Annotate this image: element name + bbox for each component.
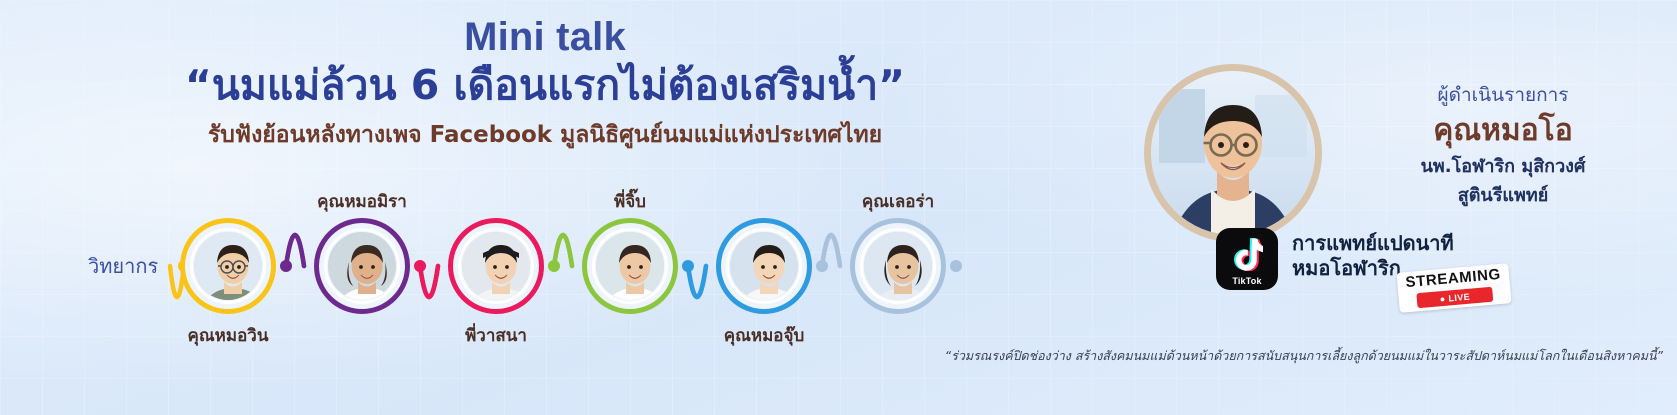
- speaker-timeline: วิทยากร คุณหม: [0, 180, 1090, 360]
- speaker-name-2: คุณหมอมิรา: [247, 188, 477, 215]
- speaker-ring: [850, 218, 946, 314]
- host-info: ผู้ดำเนินรายการ คุณหมอโอ นพ.โอฬาริก มุสิ…: [1338, 80, 1668, 207]
- speaker-node-4[interactable]: พี่จิ๊บ: [582, 218, 678, 314]
- speaker-ring: [314, 218, 410, 314]
- speaker-name-1: คุณหมอวิน: [113, 322, 343, 349]
- replay-subtitle: รับฟังย้อนหลังทางเพจ Facebook มูลนิธิศูน…: [0, 123, 1090, 147]
- banner-stage: Mini talk “นมแม่ล้วน 6 เดือนแรกไม่ต้องเส…: [0, 0, 1677, 415]
- host-avatar: [1144, 64, 1322, 242]
- tiktok-wordmark: TikTok: [1216, 276, 1278, 286]
- speaker-ring: [180, 218, 276, 314]
- headline-block: Mini talk “นมแม่ล้วน 6 เดือนแรกไม่ต้องเส…: [0, 16, 1090, 147]
- host-portrait-illustration: [1151, 71, 1315, 235]
- speaker-portrait: [596, 232, 664, 300]
- speaker-portrait: [328, 232, 396, 300]
- footer-caption: “ร่วมรณรงค์ปิดช่องว่าง สร้างสังคมนมแม่ด้…: [840, 346, 1663, 366]
- tiktok-icon[interactable]: TikTok: [1216, 228, 1278, 290]
- speaker-node-6[interactable]: คุณเลอร่า: [850, 218, 946, 314]
- page-title: Mini talk: [0, 16, 1090, 58]
- host-specialty: สูตินรีแพทย์: [1338, 184, 1668, 207]
- speaker-name-3: พี่วาสนา: [381, 322, 611, 349]
- timeline-dot-3: [414, 260, 426, 272]
- talk-topic-title: “นมแม่ล้วน 6 เดือนแรกไม่ต้องเสริมน้ำ”: [0, 64, 1090, 107]
- timeline-dot-5: [682, 260, 694, 272]
- speaker-photo: [864, 232, 932, 300]
- speaker-ring: [448, 218, 544, 314]
- speaker-ring: [716, 218, 812, 314]
- tiktok-note-glyph: [1233, 237, 1263, 271]
- speaker-portrait: [730, 232, 798, 300]
- speaker-portrait: [194, 232, 262, 300]
- speaker-node-2[interactable]: คุณหมอมิรา: [314, 218, 410, 314]
- speaker-ring: [582, 218, 678, 314]
- timeline-dot-end: [950, 260, 962, 272]
- speaker-node-1[interactable]: คุณหมอวิน: [180, 218, 276, 314]
- speaker-photo: [194, 232, 262, 300]
- speaker-portrait: [462, 232, 530, 300]
- timeline-dot-6: [816, 260, 828, 272]
- host-nickname: คุณหมอโอ: [1338, 114, 1668, 149]
- speaker-photo: [596, 232, 664, 300]
- host-role: ผู้ดำเนินรายการ: [1338, 80, 1668, 110]
- speaker-portrait: [864, 232, 932, 300]
- speaker-name-6: คุณเลอร่า: [783, 188, 1013, 215]
- speaker-photo: [328, 232, 396, 300]
- speaker-node-5[interactable]: คุณหมอจุ๊บ: [716, 218, 812, 314]
- speaker-photo: [730, 232, 798, 300]
- timeline-dot-2: [280, 260, 292, 272]
- speaker-name-5: คุณหมอจุ๊บ: [649, 322, 879, 349]
- timeline-dot-4: [548, 260, 560, 272]
- speaker-node-3[interactable]: พี่วาสนา: [448, 218, 544, 314]
- host-fullname: นพ.โอฬาริก มุสิกวงศ์: [1338, 155, 1668, 178]
- speaker-photo: [462, 232, 530, 300]
- host-panel: ผู้ดำเนินรายการ คุณหมอโอ นพ.โอฬาริก มุสิ…: [1120, 46, 1677, 376]
- channel-name-line1: การแพทย์แปดนาที: [1292, 231, 1454, 256]
- speaker-name-4: พี่จิ๊บ: [515, 188, 745, 215]
